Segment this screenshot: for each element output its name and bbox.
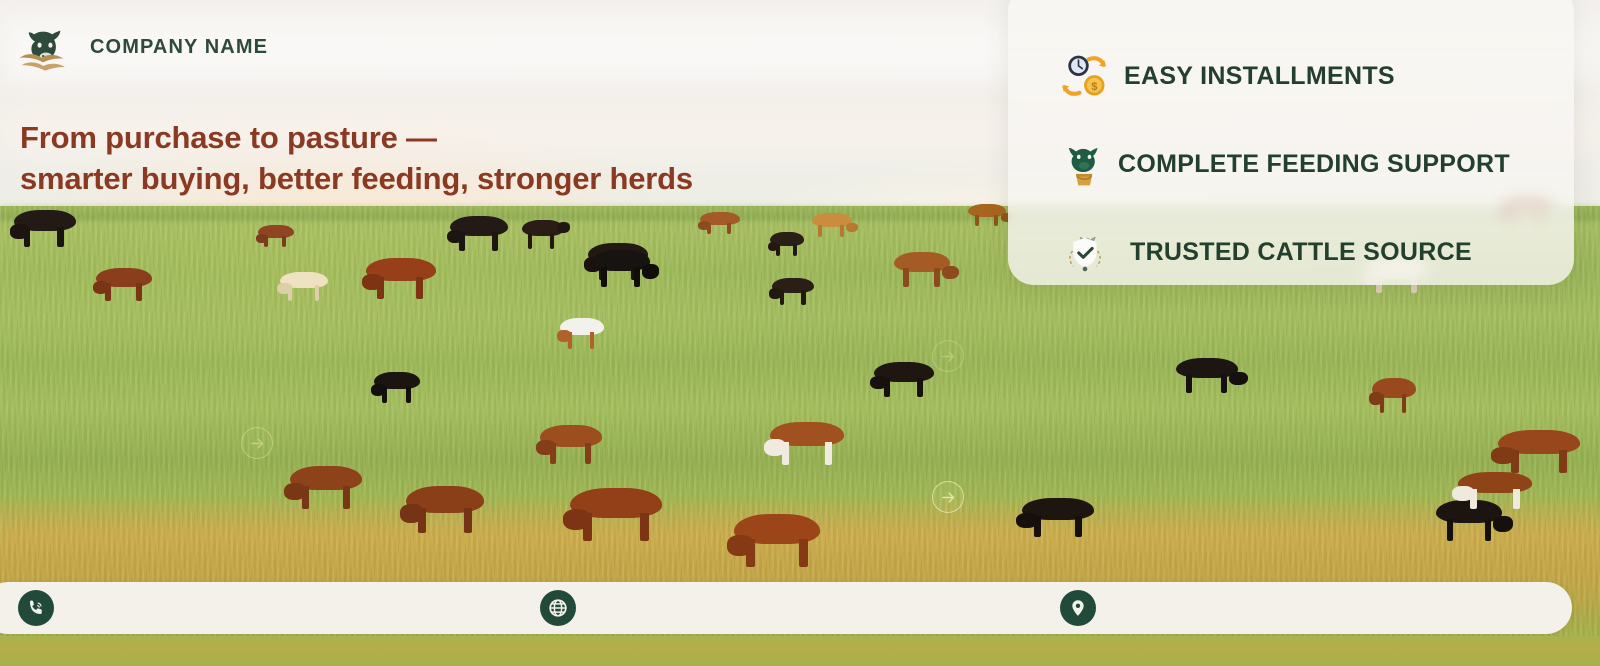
clock-coin-installments-icon: $ [1052, 50, 1118, 102]
cow [1022, 498, 1094, 536]
cow [570, 488, 662, 540]
arrow-right-icon [249, 435, 266, 452]
arrow-right-icon [940, 348, 957, 365]
contact-item-website[interactable] [540, 590, 588, 626]
features-card: $ EASY INSTALLMENTS COMPLETE FEEDING SUP… [1008, 0, 1574, 285]
cow [522, 220, 564, 248]
cow [1498, 430, 1580, 472]
cow [968, 204, 1006, 226]
contact-item-address[interactable] [1060, 590, 1108, 626]
cow [1372, 378, 1416, 412]
cow [1458, 472, 1532, 508]
slider-next-arrow-button[interactable] [932, 340, 964, 372]
cow [812, 213, 852, 237]
headline-line-2: smarter buying, better feeding, stronger… [20, 159, 920, 200]
cow [592, 250, 650, 286]
phone-icon [25, 597, 47, 619]
cow [374, 372, 420, 402]
cow [874, 362, 934, 396]
cow [770, 232, 804, 256]
location-pin-icon-badge [1060, 590, 1096, 626]
arrow-right-icon [940, 489, 957, 506]
shield-check-laurel-icon [1052, 227, 1118, 277]
globe-icon-badge [540, 590, 576, 626]
feature-item-trusted-cattle-source[interactable]: TRUSTED CATTLE SOURCE [1052, 208, 1574, 296]
cow [366, 258, 436, 298]
brand-header[interactable]: COMPANY NAME [16, 18, 268, 76]
cow [406, 486, 484, 532]
slider-next-arrow-button[interactable] [932, 481, 964, 513]
location-pin-icon [1067, 597, 1089, 619]
feature-item-easy-installments[interactable]: $ EASY INSTALLMENTS [1052, 32, 1574, 120]
cow [290, 466, 362, 508]
phone-icon-badge [18, 590, 54, 626]
feature-label: COMPLETE FEEDING SUPPORT [1118, 150, 1510, 179]
bull-head-logo-icon [16, 18, 74, 76]
cow [450, 216, 508, 250]
company-name: COMPANY NAME [90, 36, 268, 59]
cow [14, 210, 76, 246]
cow [258, 225, 294, 247]
contact-bar [0, 582, 1572, 634]
slider-next-arrow-button[interactable] [241, 427, 273, 459]
cow [734, 514, 820, 566]
cow [894, 252, 950, 286]
cow [280, 272, 328, 300]
cow [1176, 358, 1238, 392]
cow [560, 318, 604, 348]
globe-icon [547, 597, 569, 619]
hero-banner-page: COMPANY NAME From purchase to pasture — … [0, 0, 1600, 666]
cow [540, 425, 602, 463]
hero-headline: From purchase to pasture — smarter buyin… [20, 118, 920, 200]
cow-feed-bucket-icon [1052, 139, 1118, 189]
feature-label: TRUSTED CATTLE SOURCE [1130, 238, 1472, 267]
headline-line-1: From purchase to pasture — [20, 120, 437, 155]
svg-text:$: $ [1091, 81, 1098, 93]
cow [770, 422, 844, 464]
feature-label: EASY INSTALLMENTS [1124, 62, 1395, 91]
feature-item-complete-feeding-support[interactable]: COMPLETE FEEDING SUPPORT [1052, 120, 1574, 208]
cow [700, 212, 740, 234]
contact-item-phone[interactable] [18, 590, 66, 626]
bottom-grass-strip [0, 636, 1600, 666]
cow [772, 278, 814, 304]
cow [96, 268, 152, 300]
